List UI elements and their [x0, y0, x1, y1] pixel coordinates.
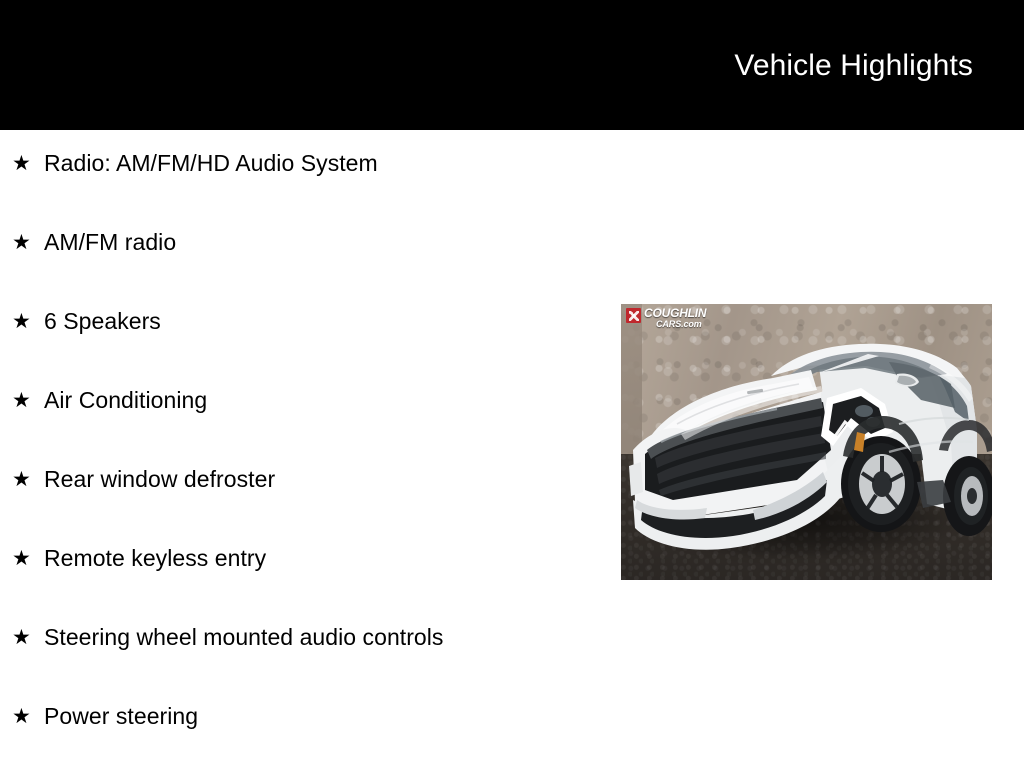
list-item: ★ 6 Speakers [0, 307, 620, 386]
star-bullet-icon: ★ [12, 544, 44, 573]
list-item: ★ Radio: AM/FM/HD Audio System [0, 149, 620, 228]
star-bullet-icon: ★ [12, 623, 44, 652]
header-bar: Vehicle Highlights [0, 0, 1024, 130]
highlight-label: Steering wheel mounted audio controls [44, 623, 444, 651]
star-bullet-icon: ★ [12, 307, 44, 336]
vehicle-photo: COUGHLIN CARS.com [621, 304, 992, 580]
watermark-brand: COUGHLIN [644, 307, 706, 319]
dealer-watermark: COUGHLIN CARS.com [626, 307, 706, 329]
list-item: ★ Remote keyless entry [0, 544, 620, 623]
star-bullet-icon: ★ [12, 465, 44, 494]
list-item: ★ Rear window defroster [0, 465, 620, 544]
vehicle-highlights-list: ★ Radio: AM/FM/HD Audio System ★ AM/FM r… [0, 149, 620, 768]
list-item: ★ Air Conditioning [0, 386, 620, 465]
highlight-label: Remote keyless entry [44, 544, 266, 572]
star-bullet-icon: ★ [12, 702, 44, 731]
highlight-label: Rear window defroster [44, 465, 275, 493]
highlight-label: AM/FM radio [44, 228, 176, 256]
list-item: ★ AM/FM radio [0, 228, 620, 307]
highlight-label: 6 Speakers [44, 307, 161, 335]
highlight-label: Radio: AM/FM/HD Audio System [44, 149, 378, 177]
star-bullet-icon: ★ [12, 386, 44, 415]
coughlin-logo-icon [626, 308, 641, 323]
watermark-domain: CARS.com [644, 320, 706, 329]
list-item: ★ Power steering [0, 702, 620, 768]
highlight-label: Air Conditioning [44, 386, 207, 414]
star-bullet-icon: ★ [12, 149, 44, 178]
list-item: ★ Steering wheel mounted audio controls [0, 623, 620, 702]
page-title: Vehicle Highlights [734, 49, 1024, 81]
watermark-text: COUGHLIN CARS.com [644, 307, 706, 329]
suv-illustration [621, 304, 992, 580]
highlight-label: Power steering [44, 702, 198, 730]
star-bullet-icon: ★ [12, 228, 44, 257]
